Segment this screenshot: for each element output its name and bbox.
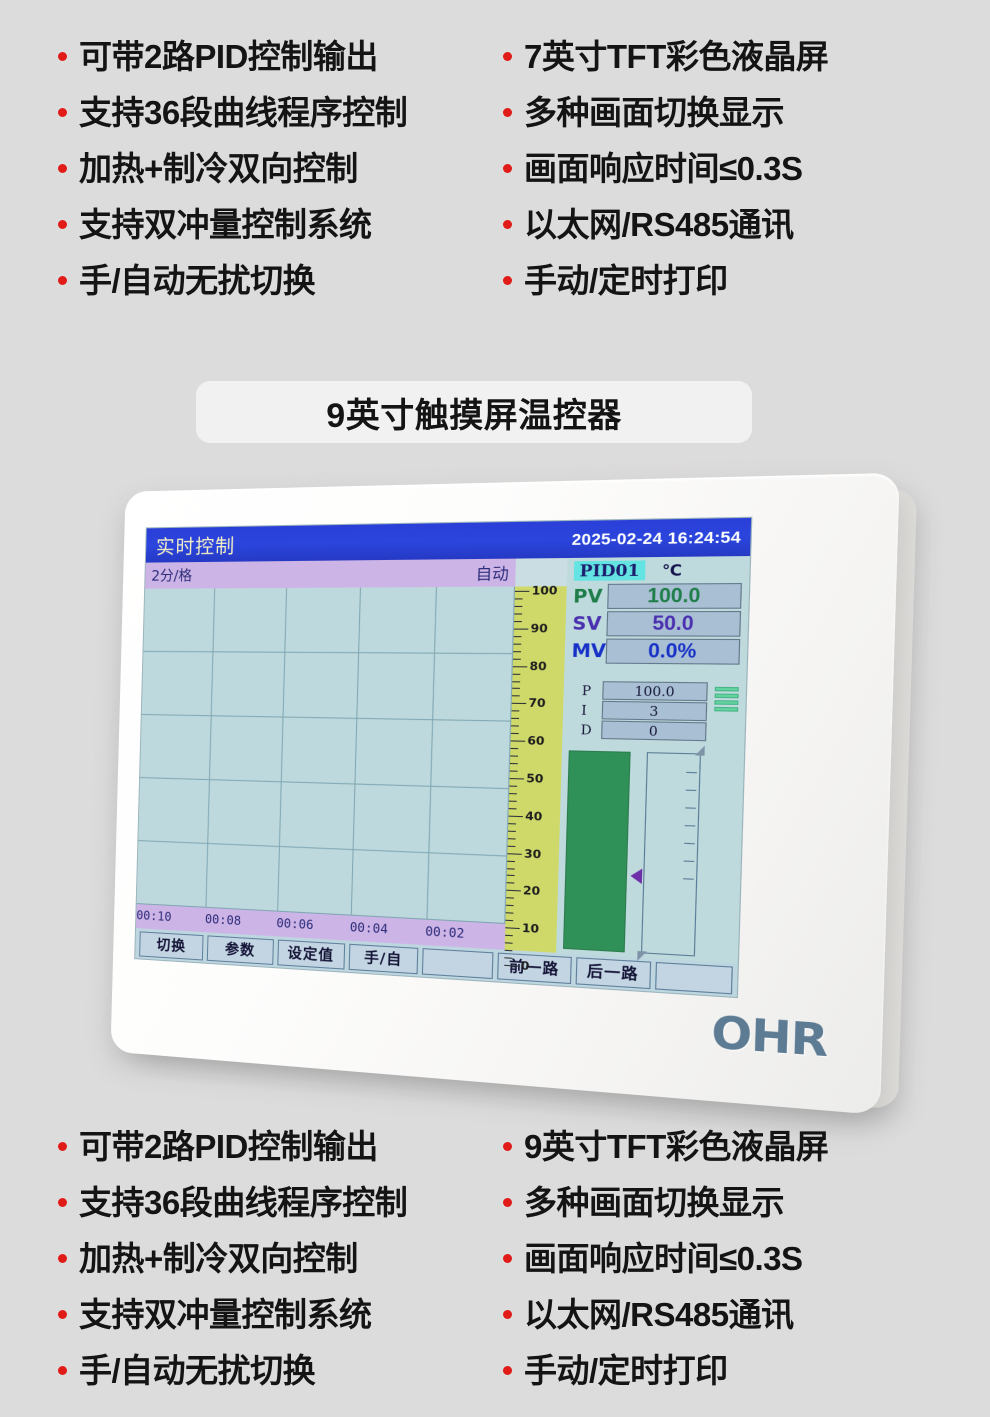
feature-column-right: 7英寸TFT彩色液晶屏 多种画面切换显示 画面响应时间≤0.3S 以太网/RS4… <box>495 28 990 308</box>
ruler-minor-tick <box>507 868 515 869</box>
feature-column-left: 可带2路PID控制输出 支持36段曲线程序控制 加热+制冷双向控制 支持双冲量控… <box>0 1118 495 1398</box>
button-next-channel[interactable]: 后一路 <box>575 957 651 989</box>
time-tick-label: 00:04 <box>350 920 389 937</box>
feature-item: 9英寸TFT彩色液晶屏 <box>503 1118 990 1174</box>
led-segment <box>715 687 739 692</box>
button-blank-1[interactable] <box>422 948 494 979</box>
ruler-minor-tick <box>511 718 519 719</box>
pid-parameter-row: P 100.0 <box>570 681 708 701</box>
mv-value[interactable]: 0.0% <box>606 639 741 665</box>
scale-tick <box>685 825 696 826</box>
promo-page: 可带2路PID控制输出 支持36段曲线程序控制 加热+制冷双向控制 支持双冲量控… <box>0 0 990 1417</box>
setpoint-scale-bar[interactable] <box>641 752 701 956</box>
sv-value[interactable]: 50.0 <box>606 611 741 637</box>
scale-tick <box>684 843 695 845</box>
ruler-minor-tick <box>507 875 515 876</box>
led-segment <box>714 707 738 712</box>
temperature-controller-device: 实时控制 2025-02-24 16:24:54 2分/格 自动 <box>110 473 899 1115</box>
pid-parameter-row: D 0 <box>569 720 707 741</box>
ruler-value-label: 0 <box>521 959 530 974</box>
bullet-dot-icon <box>503 108 512 117</box>
mv-label: MV <box>571 640 606 662</box>
pv-label: PV <box>573 585 608 607</box>
feature-label: 支持36段曲线程序控制 <box>79 1186 407 1219</box>
feature-item: 多种画面切换显示 <box>503 1174 990 1230</box>
bullet-dot-icon <box>58 1310 67 1319</box>
bullet-dot-icon <box>503 1142 512 1151</box>
feature-item: 7英寸TFT彩色液晶屏 <box>503 28 990 84</box>
pid-reading-row: MV 0.0% <box>571 638 740 664</box>
feature-label: 以太网/RS485通讯 <box>524 1298 794 1331</box>
feature-label: 手动/定时打印 <box>524 1354 728 1387</box>
ruler-value-label: 90 <box>530 621 548 635</box>
feature-label: 多种画面切换显示 <box>524 96 784 129</box>
ruler-value-label: 50 <box>526 771 544 786</box>
feature-item: 画面响应时间≤0.3S <box>503 140 990 196</box>
time-tick-label: 00:10 <box>136 908 172 924</box>
ruler-minor-tick <box>512 696 520 697</box>
feature-label: 支持36段曲线程序控制 <box>79 96 407 129</box>
ruler-minor-tick <box>505 920 513 921</box>
pid-reading-row: SV 50.0 <box>572 611 741 637</box>
ruler-minor-tick <box>506 912 514 913</box>
ruler-major-tick <box>511 741 526 742</box>
ruler-value-label: 100 <box>532 584 558 598</box>
d-label: D <box>581 722 602 738</box>
p-label: P <box>582 683 603 699</box>
bullet-dot-icon <box>58 108 67 117</box>
ruler-major-tick <box>514 628 529 629</box>
scale-tick <box>686 790 697 791</box>
i-value[interactable]: 3 <box>602 701 708 721</box>
feature-item: 支持36段曲线程序控制 <box>58 84 495 140</box>
ruler-minor-tick <box>507 860 515 861</box>
output-level-bar <box>563 750 631 952</box>
feature-item: 以太网/RS485通讯 <box>503 196 990 252</box>
button-switch[interactable]: 切换 <box>139 931 204 960</box>
feature-label: 多种画面切换显示 <box>524 1186 784 1219</box>
feature-label: 画面响应时间≤0.3S <box>524 152 803 185</box>
ruler-major-tick <box>505 927 519 929</box>
ruler-minor-tick <box>512 688 520 689</box>
feature-item: 支持36段曲线程序控制 <box>58 1174 495 1230</box>
led-segment <box>714 700 738 705</box>
d-value[interactable]: 0 <box>601 720 707 741</box>
status-led-indicator-icon <box>714 687 739 712</box>
ruler-major-tick <box>506 890 520 892</box>
bullet-dot-icon <box>503 220 512 229</box>
feature-item: 手/自动无扰切换 <box>58 252 495 308</box>
feature-label: 加热+制冷双向控制 <box>79 1242 358 1275</box>
button-setpoint[interactable]: 设定值 <box>277 939 345 969</box>
ruler-minor-tick <box>514 621 522 622</box>
time-tick-label: 00:02 <box>425 924 465 941</box>
ruler-major-tick <box>508 815 522 817</box>
ruler-minor-tick <box>509 800 517 801</box>
time-tick-label: 00:08 <box>205 912 242 928</box>
bullet-dot-icon <box>58 1254 67 1263</box>
scale-arrow-down-icon <box>637 951 647 961</box>
scale-tick <box>684 860 695 862</box>
ruler-major-tick <box>512 703 527 704</box>
feature-item: 可带2路PID控制输出 <box>58 1118 495 1174</box>
feature-list-bottom: 可带2路PID控制输出 支持36段曲线程序控制 加热+制冷双向控制 支持双冲量控… <box>0 1118 990 1398</box>
button-blank-2[interactable] <box>655 961 733 993</box>
bullet-dot-icon <box>58 164 67 173</box>
ruler-minor-tick <box>511 711 519 712</box>
feature-label: 支持双冲量控制系统 <box>79 1298 372 1331</box>
ruler-minor-tick <box>504 957 512 959</box>
feature-item: 支持双冲量控制系统 <box>58 196 495 252</box>
chart-topbar: 2分/格 自动 <box>145 559 516 589</box>
pid-parameter-table: P 100.0 I 3 D 0 <box>569 681 708 743</box>
pid-unit-label: ℃ <box>662 561 682 580</box>
ruler-value-label: 70 <box>528 696 546 710</box>
ruler-minor-tick <box>515 598 523 599</box>
pid-parameter-row: I 3 <box>570 700 708 721</box>
scale-tick <box>683 878 694 880</box>
ruler-minor-tick <box>506 898 514 899</box>
feature-list-top: 可带2路PID控制输出 支持36段曲线程序控制 加热+制冷双向控制 支持双冲量控… <box>0 28 990 308</box>
control-mode-label: 自动 <box>475 561 509 584</box>
feature-item: 可带2路PID控制输出 <box>58 28 495 84</box>
bullet-dot-icon <box>503 1310 512 1319</box>
brand-logo: OHR <box>711 1008 828 1068</box>
ruler-minor-tick <box>514 613 522 614</box>
feature-column-right: 9英寸TFT彩色液晶屏 多种画面切换显示 画面响应时间≤0.3S 以太网/RS4… <box>495 1118 990 1398</box>
ruler-minor-tick <box>510 748 518 749</box>
ruler-value-label: 20 <box>523 884 541 899</box>
feature-item: 以太网/RS485通讯 <box>503 1286 990 1342</box>
feature-label: 手/自动无扰切换 <box>79 1354 315 1387</box>
product-title-banner: 9英寸触摸屏温控器 <box>196 381 752 443</box>
feature-item: 画面响应时间≤0.3S <box>503 1230 990 1286</box>
feature-label: 以太网/RS485通讯 <box>524 208 794 241</box>
pid-reading-row: PV 100.0 <box>573 583 742 609</box>
screen-datetime: 2025-02-24 16:24:54 <box>572 528 742 549</box>
ruler-value-label: 40 <box>525 809 543 824</box>
ruler-minor-tick <box>513 651 521 652</box>
ruler-major-tick <box>507 853 521 855</box>
bullet-dot-icon <box>503 1366 512 1375</box>
feature-item: 手动/定时打印 <box>503 252 990 308</box>
ruler-minor-tick <box>513 643 521 644</box>
ruler-minor-tick <box>511 733 519 734</box>
ruler-minor-tick <box>511 726 519 727</box>
ruler-value-label: 80 <box>529 659 547 673</box>
ruler-minor-tick <box>505 950 513 952</box>
feature-item: 支持双冲量控制系统 <box>58 1286 495 1342</box>
ruler-minor-tick <box>510 771 518 772</box>
ruler-minor-tick <box>512 681 520 682</box>
chart-plot-area[interactable] <box>137 587 515 924</box>
bullet-dot-icon <box>503 164 512 173</box>
ruler-minor-tick <box>505 935 513 937</box>
pid-header: PID01 ℃ <box>574 559 743 580</box>
ruler-minor-tick <box>509 793 517 794</box>
feature-item: 手/自动无扰切换 <box>58 1342 495 1398</box>
button-parameters[interactable]: 参数 <box>207 935 273 965</box>
ruler-minor-tick <box>515 606 523 607</box>
feature-item: 加热+制冷双向控制 <box>58 140 495 196</box>
page-title: 9英寸触摸屏温控器 <box>326 388 621 437</box>
ruler-minor-tick <box>513 673 521 674</box>
ruler-minor-tick <box>514 636 522 637</box>
scale-tick <box>686 772 697 773</box>
screen-body: 2分/格 自动 00:10 00:08 00:06 00:04 00:02 <box>136 556 750 963</box>
feature-label: 7英寸TFT彩色液晶屏 <box>524 40 828 73</box>
feature-label: 加热+制冷双向控制 <box>79 152 358 185</box>
bullet-dot-icon <box>58 52 67 61</box>
feature-item: 多种画面切换显示 <box>503 84 990 140</box>
bullet-dot-icon <box>58 220 67 229</box>
feature-item: 手动/定时打印 <box>503 1342 990 1398</box>
trend-chart: 2分/格 自动 00:10 00:08 00:06 00:04 00:02 <box>136 559 516 950</box>
pid-channel-badge[interactable]: PID01 <box>574 560 646 580</box>
ruler-value-label: 60 <box>527 734 545 748</box>
ruler-minor-tick <box>510 756 518 757</box>
bullet-dot-icon <box>58 1142 67 1151</box>
scale-arrow-up-icon <box>695 745 705 755</box>
ruler-minor-tick <box>508 830 516 831</box>
feature-label: 9英寸TFT彩色液晶屏 <box>524 1130 828 1163</box>
ruler-minor-tick <box>508 838 516 839</box>
feature-label: 手动/定时打印 <box>524 264 728 297</box>
ruler-minor-tick <box>510 763 518 764</box>
device-front-bezel: 实时控制 2025-02-24 16:24:54 2分/格 自动 <box>110 473 899 1115</box>
ruler-minor-tick <box>513 658 521 659</box>
feature-label: 手/自动无扰切换 <box>79 264 315 297</box>
ruler-minor-tick <box>509 808 517 809</box>
time-tick-label: 00:06 <box>276 916 314 933</box>
bullet-dot-icon <box>503 52 512 61</box>
button-manual-auto[interactable]: 手/自 <box>348 943 418 973</box>
pid-parameters: P 100.0 I 3 D 0 <box>569 681 739 743</box>
bullet-dot-icon <box>503 1198 512 1207</box>
bullet-dot-icon <box>503 276 512 285</box>
pid-panel: PID01 ℃ PV 100.0 SV 50.0 <box>556 556 750 963</box>
ruler-minor-tick <box>508 823 516 824</box>
bullet-dot-icon <box>503 1254 512 1263</box>
sv-label: SV <box>572 613 607 635</box>
feature-label: 画面响应时间≤0.3S <box>524 1242 803 1275</box>
ruler-major-tick <box>515 591 530 592</box>
screen-title: 实时控制 <box>156 530 236 559</box>
ruler-major-tick <box>510 778 524 779</box>
i-label: I <box>581 702 602 718</box>
ruler-minor-tick <box>506 905 514 906</box>
ruler-value-label: 30 <box>524 846 542 861</box>
led-segment <box>715 693 739 698</box>
feature-label: 支持双冲量控制系统 <box>79 208 372 241</box>
device-photo: 实时控制 2025-02-24 16:24:54 2分/格 自动 <box>90 470 910 1100</box>
bullet-dot-icon <box>58 1198 67 1207</box>
output-bar-area <box>563 750 737 963</box>
p-value[interactable]: 100.0 <box>602 681 708 701</box>
ruler-value-label: 10 <box>522 921 540 936</box>
ruler-minor-tick <box>509 785 517 786</box>
bullet-dot-icon <box>58 276 67 285</box>
scale-tick <box>685 807 696 808</box>
ruler-minor-tick <box>508 845 516 846</box>
screen-titlebar: 实时控制 2025-02-24 16:24:54 <box>146 518 751 563</box>
feature-item: 加热+制冷双向控制 <box>58 1230 495 1286</box>
feature-column-left: 可带2路PID控制输出 支持36段曲线程序控制 加热+制冷双向控制 支持双冲量控… <box>0 28 495 308</box>
ruler-minor-tick <box>507 883 515 884</box>
ruler-major-tick <box>513 666 528 667</box>
feature-label: 可带2路PID控制输出 <box>79 1130 378 1163</box>
device-screen: 实时控制 2025-02-24 16:24:54 2分/格 自动 <box>134 517 752 998</box>
ruler-minor-tick <box>505 942 513 944</box>
feature-label: 可带2路PID控制输出 <box>79 40 378 73</box>
bullet-dot-icon <box>58 1366 67 1375</box>
pv-value[interactable]: 100.0 <box>607 583 742 609</box>
chart-interval-label: 2分/格 <box>151 565 192 586</box>
